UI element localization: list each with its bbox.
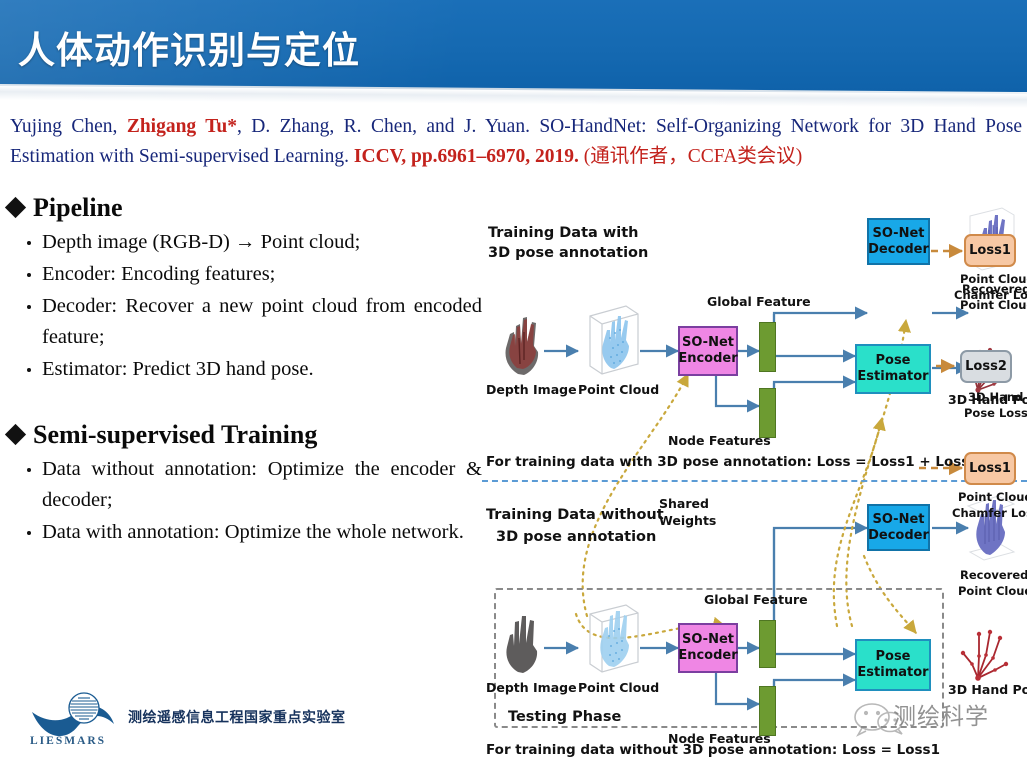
global-feature-label-top: Global Feature <box>707 294 811 309</box>
loss2-caption-top-2: Pose Loss <box>964 406 1027 420</box>
slide-page: 人体动作识别与定位 Yujing Chen, Zhigang Tu*, D. Z… <box>0 0 1027 765</box>
section-pipeline: Pipeline Depth image (RGB-D) → Point clo… <box>8 192 486 385</box>
so-net-encoder-block-bottom[interactable]: SO-Net Encoder <box>678 623 738 673</box>
bullet-list-semi-supervised: Data without annotation: Optimize the en… <box>8 454 486 548</box>
encoder-label-line2: Encoder <box>678 351 737 367</box>
top-title-line1: Training Data with <box>488 224 638 242</box>
section-divider-line <box>482 480 1027 482</box>
slide-header-bar: 人体动作识别与定位 <box>0 0 1027 92</box>
section-semi-supervised-training: Semi-supervised Training Data without an… <box>8 419 486 548</box>
loss1-caption-top-1: Point Cloud <box>960 272 1027 286</box>
point-cloud-label-top: Point Cloud <box>578 382 659 397</box>
recovered-label-bottom-1: Recovered <box>960 568 1027 582</box>
divider-caption: For training data with 3D pose annotatio… <box>486 454 979 471</box>
list-item: Data with annotation: Optimize the whole… <box>42 517 482 548</box>
loss1-caption-bottom-1: Point Cloud <box>958 490 1027 504</box>
loss1-caption-top-2: Chamfer Loss <box>954 288 1027 302</box>
point-cloud-icon-bottom <box>580 600 642 678</box>
list-item: Depth image (RGB-D) → Point cloud; <box>42 227 482 258</box>
decoder-label-line1: SO-Net <box>873 226 925 242</box>
citation-note-highlight: (通讯作者，CCFA类会议) <box>579 146 802 167</box>
global-feature-bar-bottom <box>759 620 776 668</box>
loss1-caption-bottom-2: Chamfer Loss <box>952 506 1027 520</box>
global-feature-label-bottom: Global Feature <box>704 592 808 607</box>
pose-estimator-block-bottom[interactable]: Pose Estimator <box>855 639 931 691</box>
loss2-caption-top-1: 3D Hand <box>968 390 1023 404</box>
hand-pose-skeleton-icon-bottom <box>952 620 1016 688</box>
citation-text: Yujing Chen, Zhigang Tu*, D. Zhang, R. C… <box>10 112 1022 172</box>
testing-phase-label: Testing Phase <box>508 708 621 726</box>
pose-estimator-label-line2: Estimator <box>857 369 928 385</box>
decoder-label-line2: Decoder <box>868 242 929 258</box>
list-item: Estimator: Predict 3D hand pose. <box>42 354 482 385</box>
page-title: 人体动作识别与定位 <box>18 20 360 74</box>
so-net-decoder-block-bottom[interactable]: SO-Net Decoder <box>867 504 930 551</box>
list-item: Decoder: Recover a new point cloud from … <box>42 291 482 353</box>
loss1-block-bottom[interactable]: Loss1 <box>964 452 1016 485</box>
bullet-list-pipeline: Depth image (RGB-D) → Point cloud; Encod… <box>8 227 486 385</box>
decoder-label-line1: SO-Net <box>873 512 925 528</box>
shared-weights-label-1: Shared <box>659 496 709 511</box>
global-feature-bar-top <box>759 322 776 372</box>
depth-image-label-bottom: Depth Image <box>486 680 577 695</box>
so-net-decoder-block-top[interactable]: SO-Net Decoder <box>867 218 930 265</box>
section-heading-pipeline: Pipeline <box>8 192 486 224</box>
encoder-label-line2: Encoder <box>678 648 737 664</box>
loss1-block-top[interactable]: Loss1 <box>964 234 1016 267</box>
section-heading-label: Semi-supervised Training <box>33 419 317 451</box>
architecture-diagram: Training Data with 3D pose annotation De… <box>482 196 1027 765</box>
so-net-encoder-block-top[interactable]: SO-Net Encoder <box>678 326 738 376</box>
bottom-title-line1: Training Data without <box>486 506 664 524</box>
diamond-bullet-icon <box>5 197 26 218</box>
loss2-label-top: Loss2 <box>965 359 1007 374</box>
loss1-label-top: Loss1 <box>969 243 1011 258</box>
lab-name-label: 测绘遥感信息工程国家重点实验室 <box>128 707 346 727</box>
encoder-label-line1: SO-Net <box>682 632 734 648</box>
point-cloud-icon-top <box>580 300 642 380</box>
left-content-column: Pipeline Depth image (RGB-D) → Point clo… <box>8 192 486 552</box>
pose-estimator-label-line2: Estimator <box>857 665 928 681</box>
depth-image-label-top: Depth Image <box>486 382 577 397</box>
citation-venue-highlight: ICCV, pp.6961–6970, 2019. <box>354 146 579 167</box>
decoder-label-line2: Decoder <box>868 528 929 544</box>
bottom-caption: For training data without 3D pose annota… <box>486 742 940 759</box>
loss2-block-top[interactable]: Loss2 <box>960 350 1012 383</box>
top-title-line2: 3D pose annotation <box>488 244 648 262</box>
shared-weights-label-2: Weights <box>659 513 716 528</box>
diamond-bullet-icon <box>5 424 26 445</box>
pose-estimator-block-top[interactable]: Pose Estimator <box>855 344 931 394</box>
node-feature-bar-bottom <box>759 686 776 736</box>
section-heading-label: Pipeline <box>33 192 123 224</box>
pose-estimator-label-line1: Pose <box>875 649 910 665</box>
recovered-label-bottom-2: Point Cloud <box>958 584 1027 598</box>
liesmars-wordmark: LIESMARS <box>30 735 106 747</box>
citation-part1: Yujing Chen, <box>10 116 127 137</box>
list-item: Encoder: Encoding features; <box>42 259 482 290</box>
bottom-title-line2: 3D pose annotation <box>496 528 656 546</box>
loss1-label-bottom: Loss1 <box>969 461 1011 476</box>
section-heading-semi-supervised: Semi-supervised Training <box>8 419 486 451</box>
depth-image-hand-icon-bottom <box>496 608 548 674</box>
depth-image-hand-icon-top <box>496 308 548 376</box>
pose-estimator-label-line1: Pose <box>875 353 910 369</box>
point-cloud-label-bottom: Point Cloud <box>578 680 659 695</box>
node-feature-bar-top <box>759 388 776 438</box>
list-item: Data without annotation: Optimize the en… <box>42 454 482 516</box>
hand-pose-label-bottom: 3D Hand Pose <box>948 682 1027 697</box>
citation-author-highlight: Zhigang Tu* <box>127 116 237 137</box>
encoder-label-line1: SO-Net <box>682 335 734 351</box>
node-features-label-top: Node Features <box>668 433 771 448</box>
